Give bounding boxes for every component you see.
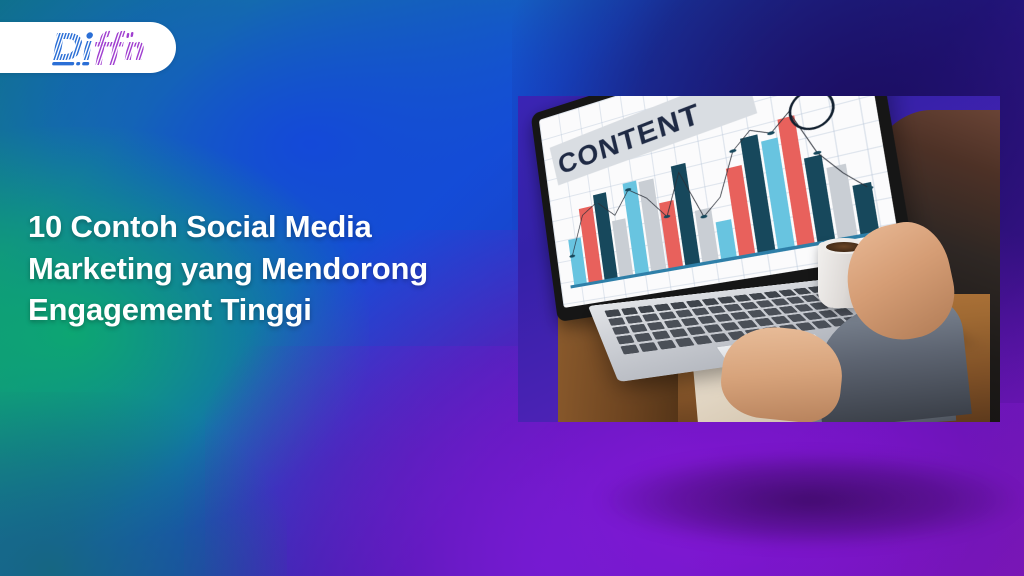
difin-logo-icon bbox=[46, 27, 150, 69]
keyboard-key[interactable] bbox=[670, 302, 688, 310]
headline-line-3: Engagement Tinggi bbox=[28, 289, 528, 331]
keyboard-key[interactable] bbox=[714, 314, 733, 322]
brand-logo-pill[interactable] bbox=[0, 22, 176, 73]
headline-line-1: 10 Contoh Social Media bbox=[28, 206, 528, 248]
keyboard-key[interactable] bbox=[721, 322, 741, 331]
keyboard-key[interactable] bbox=[642, 313, 660, 321]
keyboard-key[interactable] bbox=[692, 308, 710, 316]
keyboard-key[interactable] bbox=[763, 308, 782, 316]
keyboard-key[interactable] bbox=[755, 300, 774, 308]
keyboard-key[interactable] bbox=[621, 307, 638, 315]
keyboard-key[interactable] bbox=[718, 296, 736, 303]
keyboard-key[interactable] bbox=[657, 340, 677, 350]
keyboard-key[interactable] bbox=[630, 324, 648, 333]
keyboard-key[interactable] bbox=[625, 315, 643, 323]
headline: 10 Contoh Social Media Marketing yang Me… bbox=[28, 206, 528, 331]
keyboard-key[interactable] bbox=[612, 326, 630, 335]
keyboard-key[interactable] bbox=[687, 326, 706, 335]
keyboard-key[interactable] bbox=[659, 311, 677, 319]
keyboard-key[interactable] bbox=[731, 312, 750, 320]
keyboard-key[interactable] bbox=[710, 333, 730, 342]
keyboard-key[interactable] bbox=[638, 305, 655, 313]
background-glow-teal bbox=[0, 392, 287, 576]
promo-banner: 10 Contoh Social Media Marketing yang Me… bbox=[0, 0, 1024, 576]
keyboard-key[interactable] bbox=[652, 330, 671, 339]
keyboard-key[interactable] bbox=[748, 293, 766, 300]
keyboard-key[interactable] bbox=[754, 318, 774, 327]
photo-drop-shadow bbox=[600, 452, 1020, 548]
keyboard-key[interactable] bbox=[604, 309, 621, 317]
keyboard-key[interactable] bbox=[616, 335, 635, 345]
keyboard-key[interactable] bbox=[669, 328, 688, 337]
headline-line-2: Marketing yang Mendorong bbox=[28, 248, 528, 290]
keyboard-key[interactable] bbox=[770, 316, 790, 324]
keyboard-key[interactable] bbox=[681, 318, 700, 327]
keyboard-key[interactable] bbox=[675, 337, 695, 347]
keyboard-key[interactable] bbox=[620, 344, 639, 354]
keyboard-key[interactable] bbox=[608, 317, 626, 326]
keyboard-key[interactable] bbox=[693, 335, 713, 345]
keyboard-key[interactable] bbox=[702, 298, 720, 306]
hero-photo: CONTENT bbox=[518, 96, 1000, 422]
keyboard-key[interactable] bbox=[704, 324, 723, 333]
keyboard-key[interactable] bbox=[639, 342, 658, 352]
keyboard-key[interactable] bbox=[738, 320, 758, 329]
keyboard-key[interactable] bbox=[747, 310, 766, 318]
keyboard-key[interactable] bbox=[654, 304, 671, 312]
keyboard-key[interactable] bbox=[647, 322, 665, 331]
keyboard-key[interactable] bbox=[708, 306, 726, 314]
keyboard-key[interactable] bbox=[634, 333, 653, 342]
keyboard-key[interactable] bbox=[724, 304, 743, 312]
keyboard-key[interactable] bbox=[664, 320, 683, 329]
keyboard-key[interactable] bbox=[686, 300, 704, 308]
keyboard-key[interactable] bbox=[740, 302, 759, 310]
keyboard-key[interactable] bbox=[733, 295, 751, 302]
keyboard-key[interactable] bbox=[675, 309, 693, 317]
keyboard-key[interactable] bbox=[698, 316, 717, 324]
